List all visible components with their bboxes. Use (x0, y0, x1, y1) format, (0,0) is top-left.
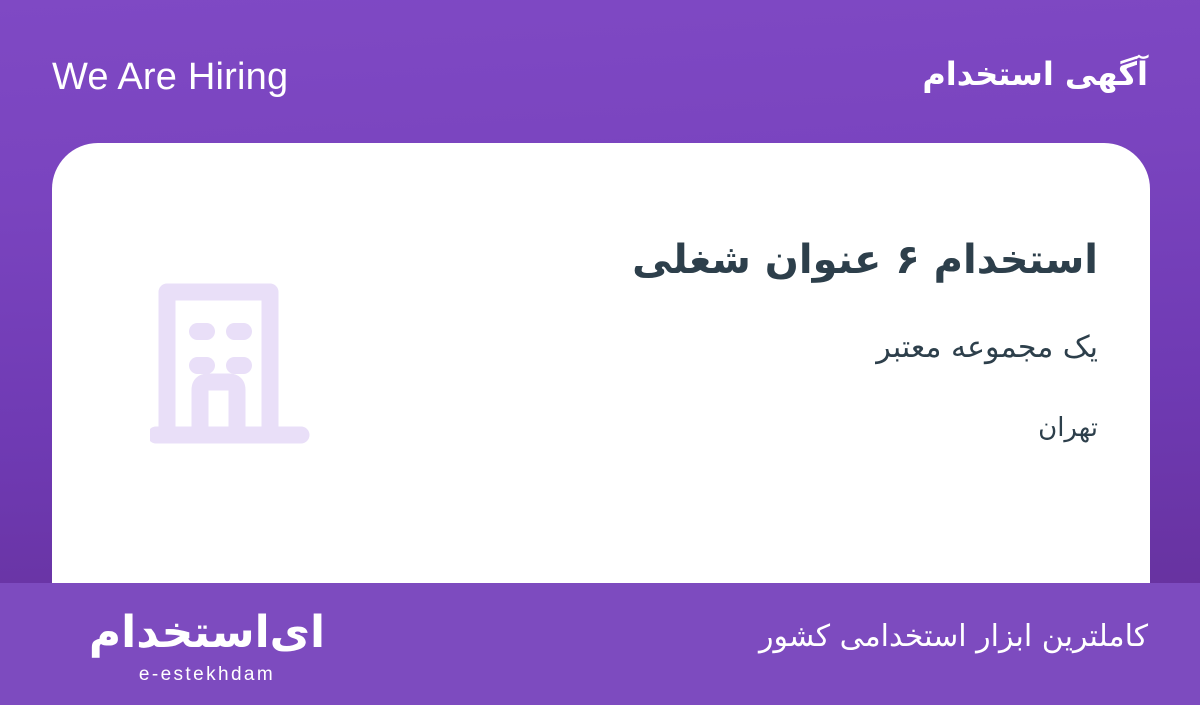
poster-footer: کاملترین ابزار استخدامی کشور ای‌استخدام … (0, 583, 1200, 705)
footer-tagline: کاملترین ابزار استخدامی کشور (759, 613, 1148, 661)
company-name: یک مجموعه معتبر (338, 319, 1098, 377)
job-location: تهران (338, 403, 1098, 453)
company-logo-slot (150, 275, 310, 447)
job-details: استخدام ۶ عنوان شغلی یک مجموعه معتبر تهر… (338, 227, 1098, 453)
headline-english: We Are Hiring (52, 54, 288, 100)
brand-wordmark-latin: e-estekhdam (52, 663, 362, 687)
job-card: استخدام ۶ عنوان شغلی یک مجموعه معتبر تهر… (52, 143, 1150, 583)
brand-wordmark-persian: ای‌استخدام (52, 607, 362, 659)
building-icon (150, 275, 310, 447)
job-title: استخدام ۶ عنوان شغلی (338, 227, 1098, 293)
poster-header: We Are Hiring آگهی استخدام (0, 0, 1200, 143)
headline-persian: آگهی استخدام (922, 48, 1148, 100)
brand-lockup: ای‌استخدام e-estekhdam (52, 607, 362, 687)
hiring-poster: We Are Hiring آگهی استخدام (0, 0, 1200, 705)
job-card-inner: استخدام ۶ عنوان شغلی یک مجموعه معتبر تهر… (52, 143, 1150, 583)
